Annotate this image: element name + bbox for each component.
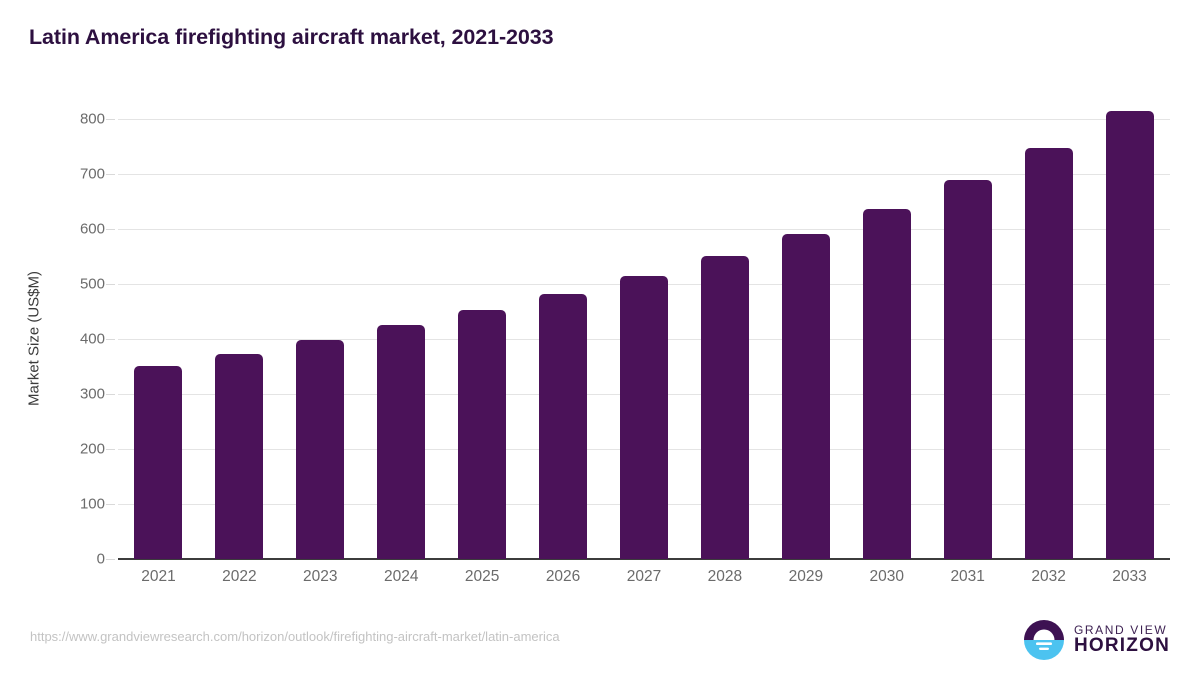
bar-2024[interactable] bbox=[377, 325, 425, 559]
bar-2029[interactable] bbox=[782, 234, 830, 559]
y-tick-label: 100 bbox=[35, 496, 105, 513]
x-tick-label-2031: 2031 bbox=[923, 568, 1013, 586]
x-axis-tick-labels: 2021202220232024202520262027202820292030… bbox=[118, 568, 1170, 594]
y-tick-label: 300 bbox=[35, 386, 105, 403]
source-url: https://www.grandviewresearch.com/horizo… bbox=[30, 629, 560, 644]
y-tick-mark bbox=[106, 339, 115, 340]
page-title: Latin America firefighting aircraft mark… bbox=[29, 25, 553, 50]
x-tick-label-2029: 2029 bbox=[761, 568, 851, 586]
y-tick-mark bbox=[106, 229, 115, 230]
x-tick-label-2028: 2028 bbox=[680, 568, 770, 586]
logo-wordmark: GRAND VIEW HORIZON bbox=[1074, 624, 1170, 657]
y-tick-label: 200 bbox=[35, 441, 105, 458]
chart-card: Latin America firefighting aircraft mark… bbox=[0, 0, 1200, 675]
y-tick-mark bbox=[106, 504, 115, 505]
x-tick-label-2030: 2030 bbox=[842, 568, 932, 586]
x-tick-label-2026: 2026 bbox=[518, 568, 608, 586]
bar-2023[interactable] bbox=[296, 340, 344, 559]
y-axis-tick-labels: 0100200300400500600700800 bbox=[30, 119, 106, 559]
x-tick-label-2027: 2027 bbox=[599, 568, 689, 586]
y-tick-label: 600 bbox=[35, 221, 105, 238]
y-tick-label: 800 bbox=[35, 111, 105, 128]
bar-2032[interactable] bbox=[1025, 148, 1073, 559]
bar-2027[interactable] bbox=[620, 276, 668, 559]
y-tick-label: 700 bbox=[35, 166, 105, 183]
horizon-logo-icon bbox=[1023, 619, 1065, 661]
bar-2030[interactable] bbox=[863, 209, 911, 559]
y-tick-mark bbox=[106, 394, 115, 395]
bar-2026[interactable] bbox=[539, 294, 587, 559]
y-tick-mark bbox=[106, 284, 115, 285]
y-tick-mark bbox=[106, 559, 115, 560]
y-tick-mark bbox=[106, 119, 115, 120]
x-tick-label-2025: 2025 bbox=[437, 568, 527, 586]
y-tick-mark bbox=[106, 449, 115, 450]
x-tick-label-2023: 2023 bbox=[275, 568, 365, 586]
bar-2033[interactable] bbox=[1106, 111, 1154, 559]
x-tick-label-2032: 2032 bbox=[1004, 568, 1094, 586]
brand-logo: GRAND VIEW HORIZON bbox=[1023, 618, 1170, 662]
bar-series bbox=[118, 119, 1170, 559]
x-tick-label-2021: 2021 bbox=[113, 568, 203, 586]
x-tick-label-2033: 2033 bbox=[1085, 568, 1175, 586]
y-tick-label: 400 bbox=[35, 331, 105, 348]
bar-2031[interactable] bbox=[944, 180, 992, 559]
logo-bottom-text: HORIZON bbox=[1074, 636, 1170, 656]
bar-2022[interactable] bbox=[215, 354, 263, 559]
plot-area bbox=[118, 119, 1170, 559]
bar-2021[interactable] bbox=[134, 366, 182, 559]
bar-2025[interactable] bbox=[458, 310, 506, 559]
y-tick-mark bbox=[106, 174, 115, 175]
bar-2028[interactable] bbox=[701, 256, 749, 559]
y-tick-label: 0 bbox=[35, 551, 105, 568]
y-tick-label: 500 bbox=[35, 276, 105, 293]
x-tick-label-2024: 2024 bbox=[356, 568, 446, 586]
x-tick-label-2022: 2022 bbox=[194, 568, 284, 586]
